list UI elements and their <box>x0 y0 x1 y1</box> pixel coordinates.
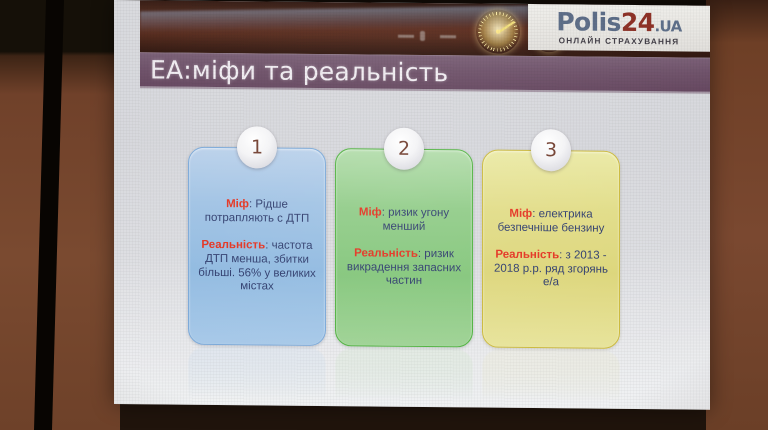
reality-label: Реальність <box>354 248 418 261</box>
logo-name-tld: .UA <box>654 17 681 35</box>
card-number: 3 <box>545 141 557 160</box>
myth-body: : ризик угону менший <box>382 207 449 233</box>
card-number-badge: 3 <box>531 129 571 171</box>
card-1[interactable]: Міф: Рідше потрапляють с ДТП Реальність:… <box>182 126 332 127</box>
logo-name-number: 24 <box>621 8 655 37</box>
polis24-logo: Polis24.UA ОНЛАЙН СТРАХУВАННЯ <box>528 4 710 52</box>
card-reflection <box>188 347 326 404</box>
logo-tagline: ОНЛАЙН СТРАХУВАННЯ <box>559 36 680 46</box>
card-number: 1 <box>251 138 263 157</box>
card-reality-text: Реальність: частота ДТП менша, збитки бі… <box>197 239 317 294</box>
card-myth-text: Міф: Рідше потрапляють с ДТП <box>197 198 317 226</box>
card-number: 2 <box>398 139 410 158</box>
projected-slide: Polis24.UA ОНЛАЙН СТРАХУВАННЯ ЕА:міфи та… <box>114 0 710 410</box>
card-body[interactable]: Міф: електрика безпечніше бензину Реальн… <box>482 150 620 349</box>
slide-header-banner: Polis24.UA ОНЛАЙН СТРАХУВАННЯ <box>140 0 710 57</box>
reality-label: Реальність <box>495 249 559 262</box>
card-reality-text: Реальність: з 2013 - 2018 р.р. ряд згоря… <box>491 249 611 291</box>
myth-label: Міф <box>359 206 382 218</box>
page-title: ЕА:міфи та реальність <box>140 57 448 85</box>
myth-label: Міф <box>226 198 249 210</box>
cards-row: Міф: Рідше потрапляють с ДТП Реальність:… <box>114 125 710 371</box>
card-body[interactable]: Міф: Рідше потрапляють с ДТП Реальність:… <box>188 147 326 346</box>
card-2[interactable]: Міф: ризик угону менший Реальність: ризи… <box>329 127 479 128</box>
myth-label: Міф <box>509 208 532 220</box>
reality-label: Реальність <box>201 239 265 252</box>
card-body[interactable]: Міф: ризик угону менший Реальність: ризи… <box>335 148 473 347</box>
card-number-badge: 1 <box>237 126 277 168</box>
logo-name-prefix: Polis <box>556 7 621 37</box>
right-wall <box>706 0 768 430</box>
card-reflection <box>482 350 620 407</box>
logo-wordmark: Polis24.UA <box>556 9 681 35</box>
card-reflection <box>335 348 473 405</box>
card-reality-text: Реальність: ризик викрадення запасних ча… <box>344 247 464 289</box>
air-vent-icon <box>440 35 456 38</box>
air-vent-icon <box>398 35 414 38</box>
speedometer-gauge-icon <box>476 9 520 53</box>
card-3[interactable]: Міф: електрика безпечніше бензину Реальн… <box>476 128 626 129</box>
card-myth-text: Міф: ризик угону менший <box>344 206 464 234</box>
steering-column-icon <box>420 31 425 41</box>
myth-body: : Рідше потрапляють с ДТП <box>205 199 309 225</box>
slide-title-band: ЕА:міфи та реальність <box>140 52 710 91</box>
gauge-hub <box>496 30 500 34</box>
card-myth-text: Міф: електрика безпечніше бензину <box>491 208 611 236</box>
card-number-badge: 2 <box>384 128 424 170</box>
